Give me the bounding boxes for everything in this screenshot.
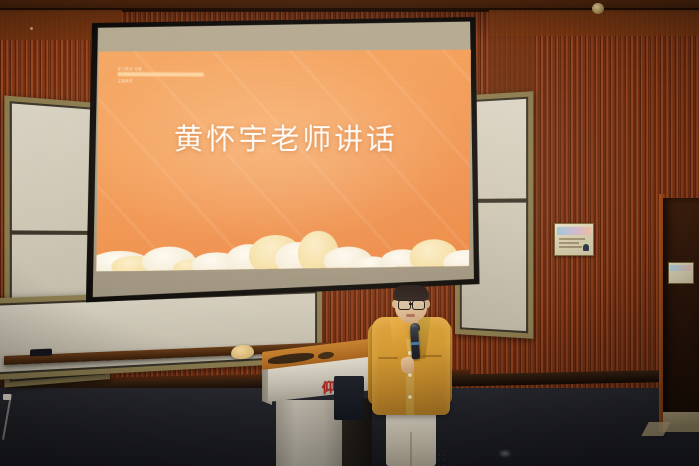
image-vignette bbox=[0, 0, 699, 466]
lecture-hall-photo: 学习贯彻 专题 主题教育 黄怀宇老师讲话 bbox=[0, 0, 699, 466]
